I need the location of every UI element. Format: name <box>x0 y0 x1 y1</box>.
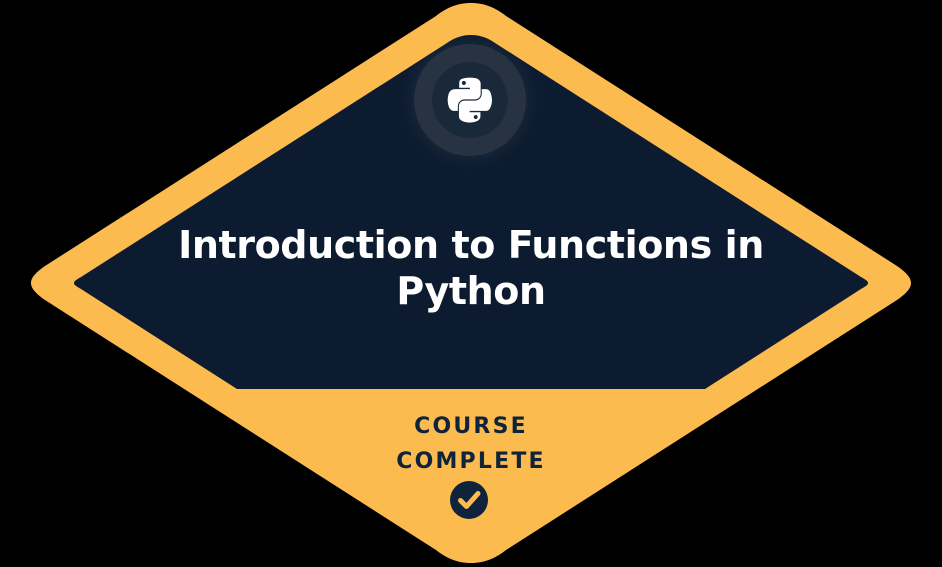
logo-ring-inner <box>432 62 508 138</box>
course-completion-badge[interactable] <box>0 0 942 567</box>
check-circle-icon <box>450 481 488 519</box>
badge-canvas: Introduction to Functions in Python COUR… <box>0 0 942 567</box>
